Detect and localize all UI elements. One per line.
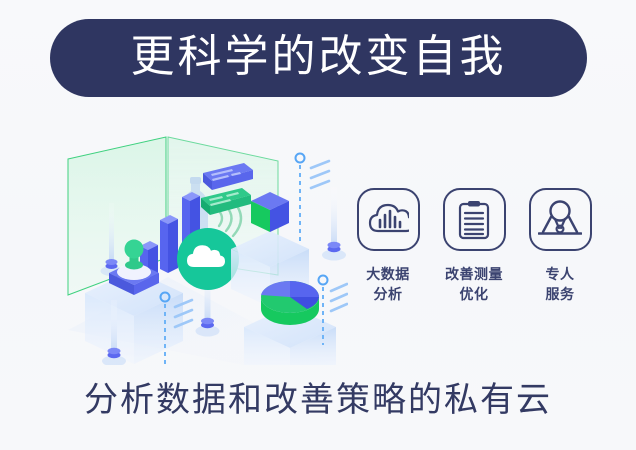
feature-icon-box (443, 188, 506, 251)
feature-item-big-data-analysis[interactable]: 大数据 分析 (352, 188, 424, 304)
dashed-marker-top-right (296, 154, 330, 244)
feature-label: 大数据 分析 (366, 264, 410, 304)
isometric-pie-chart (261, 281, 319, 325)
feature-label: 专人 服务 (546, 264, 575, 304)
cloud-bar-chart-icon (367, 202, 409, 238)
feature-icon-box (357, 188, 420, 251)
feature-label: 改善测量 优化 (445, 264, 503, 304)
support-person-icon (538, 200, 582, 240)
clipboard-icon (457, 200, 491, 240)
feature-icon-box (529, 188, 592, 251)
page-title: 更科学的改变自我 (131, 35, 507, 82)
illustration (48, 125, 348, 365)
right-stem-marker (322, 187, 346, 261)
feature-list: 大数据 分析 (352, 188, 596, 333)
feature-item-dedicated-service[interactable]: 专人 服务 (524, 188, 596, 304)
header-banner: 更科学的改变自我 (50, 19, 587, 97)
feature-item-measurement-optimization[interactable]: 改善测量 优化 (438, 188, 510, 304)
banner-canvas: 更科学的改变自我 (0, 0, 636, 450)
tagline: 分析数据和改善策略的私有云 (0, 382, 636, 419)
